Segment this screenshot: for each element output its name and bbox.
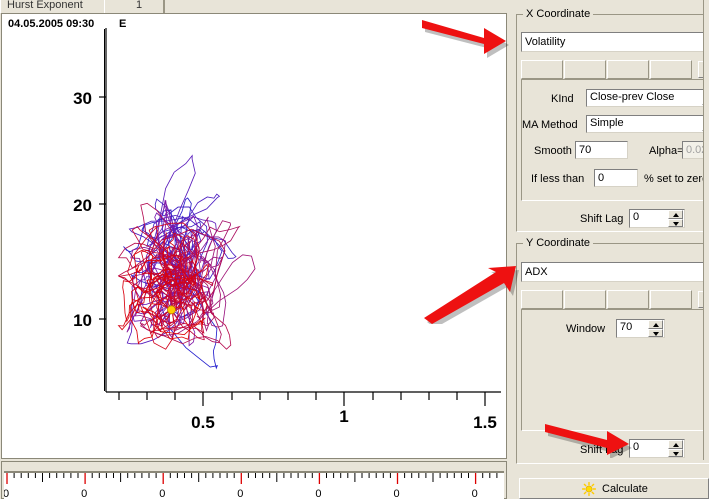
scatter-plot: 30 20 10 0.5 1 1.5 [2, 14, 507, 459]
y-param-tab-1[interactable] [521, 290, 563, 309]
panel-scroll-gutter[interactable] [703, 0, 709, 460]
sun-sparkle-icon [582, 482, 596, 496]
spinner-down-icon[interactable] [668, 449, 683, 458]
window-tab-strip[interactable]: Hurst Exponent 1 [0, 0, 509, 13]
spinner-up-icon[interactable] [668, 440, 683, 449]
y-param-tab-2[interactable] [564, 290, 606, 309]
x-smooth-label: Smooth [534, 145, 572, 157]
svg-text:0: 0 [394, 488, 400, 499]
spinner-down-icon[interactable] [668, 219, 683, 228]
x-if-less-than-label: If less than [531, 173, 584, 185]
y-indicator-value: ADX [525, 266, 548, 278]
tab-strip-divider [163, 0, 165, 13]
x-param-tab-4[interactable] [650, 60, 692, 79]
x-alpha-label: Alpha= [649, 145, 684, 157]
chart-pane[interactable]: 04.05.2005 09:30 E 30 20 10 [1, 13, 507, 459]
y-window-value: 70 [620, 321, 632, 333]
x-indicator-value: Volatility [525, 36, 565, 48]
svg-text:0: 0 [237, 488, 243, 499]
x-param-tab-3[interactable] [607, 60, 649, 79]
svg-text:0: 0 [159, 488, 165, 499]
x-kind-combo[interactable]: Close-prev Close [586, 89, 709, 107]
x-shift-lag-label: Shift Lag [580, 213, 623, 225]
x-kind-value: Close-prev Close [590, 91, 674, 103]
x-ma-method-value: Simple [590, 117, 624, 129]
spinner-up-icon[interactable] [668, 210, 683, 219]
y-window-spinner[interactable]: 70 [616, 319, 665, 338]
svg-text:0: 0 [472, 488, 478, 499]
svg-text:0: 0 [4, 488, 9, 499]
timeline-ruler[interactable]: 0000000 [4, 471, 504, 499]
y-shift-lag-spin-buttons[interactable] [668, 440, 683, 457]
indicator-settings-panel[interactable]: X Coordinate Volatility KInd Close-prev … [509, 0, 709, 499]
x-shift-lag-spin-buttons[interactable] [668, 210, 683, 227]
current-point-marker [167, 306, 175, 314]
timeline-ruler-container[interactable]: 0000000 [1, 461, 507, 499]
y-tick-label-20: 20 [73, 196, 92, 215]
y-indicator-field[interactable]: ADX [521, 262, 709, 282]
svg-text:0: 0 [81, 488, 87, 499]
x-param-tab-1[interactable] [521, 60, 563, 79]
x-if-less-than-field[interactable]: 0 [594, 169, 638, 187]
calculate-button-label: Calculate [602, 483, 648, 495]
tab-strip-filler [166, 0, 509, 13]
y-shift-lag-label: Shift Lag [580, 444, 623, 456]
y-window-spin-buttons[interactable] [648, 320, 663, 337]
y-param-tab-4[interactable] [650, 290, 692, 309]
x-ma-method-label: MA Method [522, 119, 578, 131]
y-window-label: Window [566, 323, 605, 335]
x-shift-lag-value: 0 [633, 211, 639, 223]
y-shift-lag-spinner[interactable]: 0 [629, 439, 685, 458]
x-kind-label: KInd [551, 93, 574, 105]
x-smooth-field[interactable]: 70 [575, 141, 628, 159]
x-tick-label-1: 1 [339, 407, 348, 426]
x-coordinate-group-title: X Coordinate [523, 8, 593, 20]
y-tick-label-10: 10 [73, 311, 92, 330]
x-if-less-than-value: 0 [598, 172, 604, 184]
x-tick-label-1-5: 1.5 [473, 413, 497, 432]
y-param-page [521, 309, 709, 431]
x-ma-method-combo[interactable]: Simple [586, 115, 709, 133]
spinner-up-icon[interactable] [648, 320, 663, 329]
x-smooth-value: 70 [579, 144, 591, 156]
x-param-tab-2[interactable] [564, 60, 606, 79]
x-tick-label-0-5: 0.5 [191, 413, 215, 432]
x-percent-set-zero-label: % set to zero [644, 173, 708, 185]
y-coordinate-group-title: Y Coordinate [523, 237, 593, 249]
tab-label: Hurst Exponent [7, 0, 83, 11]
x-indicator-field[interactable]: Volatility [521, 32, 709, 52]
svg-text:0: 0 [315, 488, 321, 499]
y-tick-label-30: 30 [73, 89, 92, 108]
spinner-down-icon[interactable] [648, 329, 663, 338]
y-param-tab-3[interactable] [607, 290, 649, 309]
y-shift-lag-value: 0 [633, 441, 639, 453]
y-param-tabstrip[interactable] [521, 290, 709, 310]
tab-hurst-exponent[interactable]: Hurst Exponent [0, 0, 110, 13]
x-param-tabstrip[interactable] [521, 60, 709, 80]
tab-label: 1 [136, 0, 142, 11]
calculate-button[interactable]: Calculate [519, 478, 709, 499]
x-shift-lag-spinner[interactable]: 0 [629, 209, 685, 228]
